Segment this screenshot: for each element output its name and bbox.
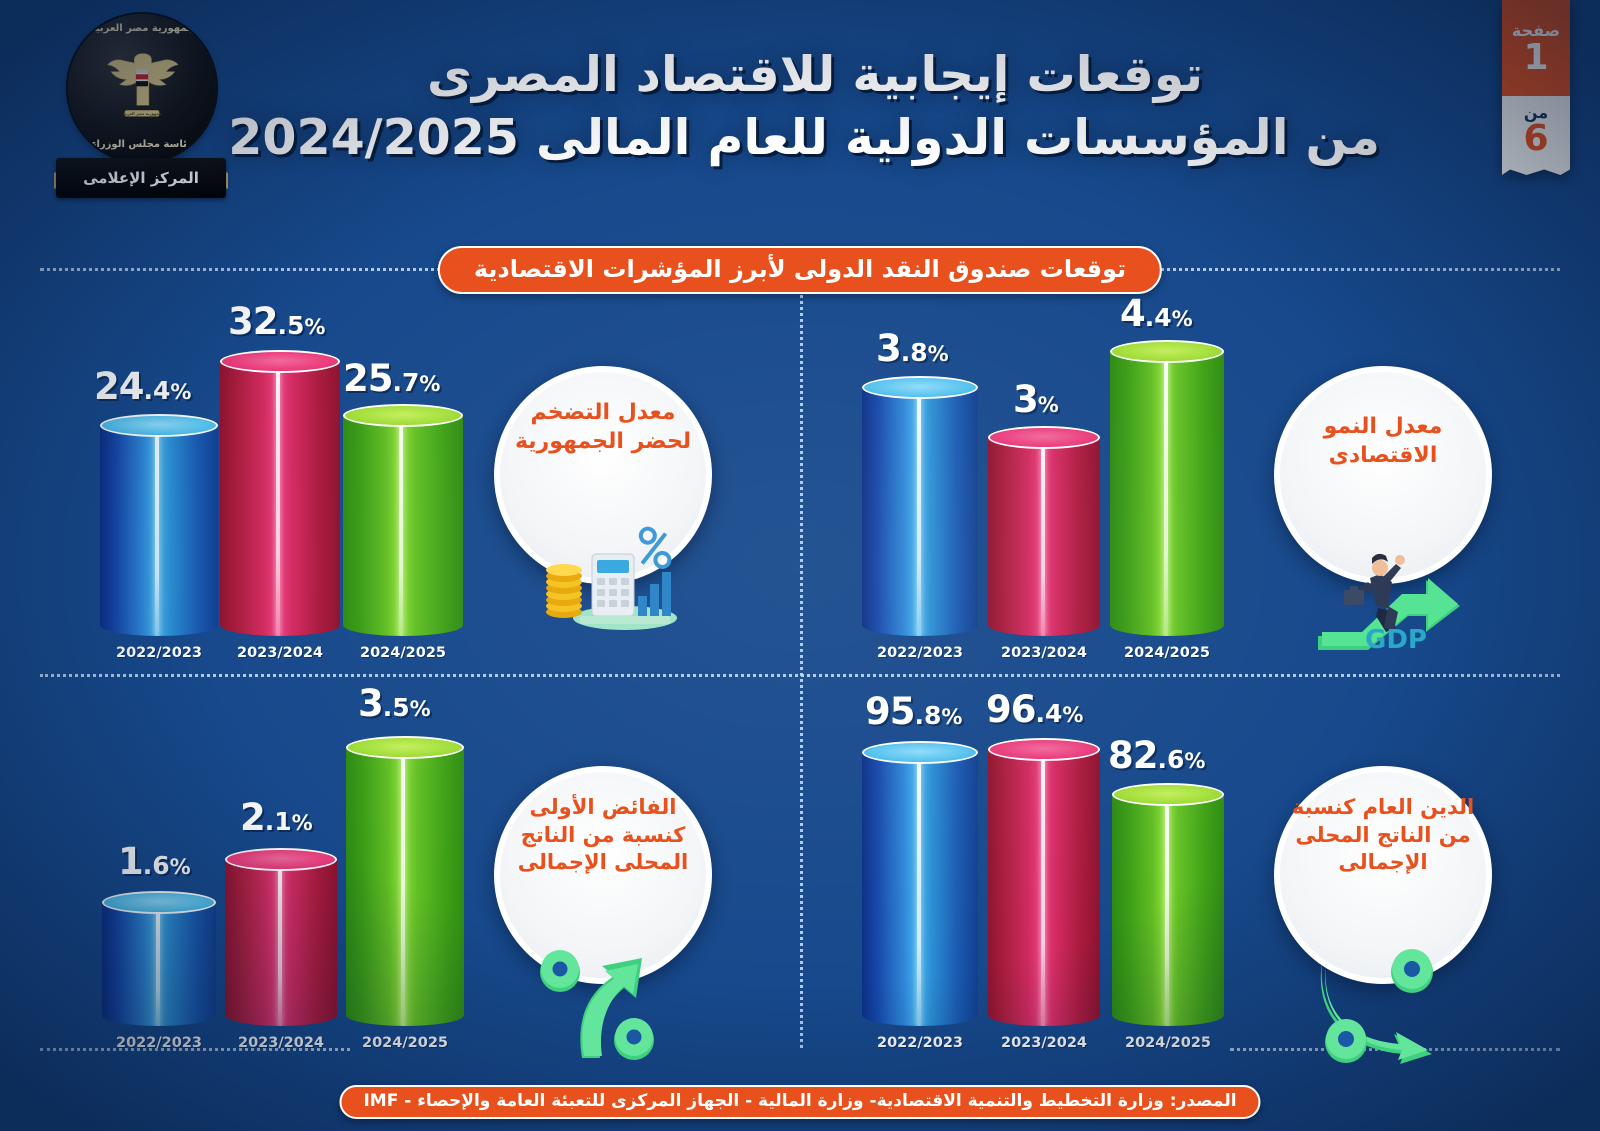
bar-highlight [401,747,405,1026]
value-decimal: .1 [265,807,292,836]
bar-top-ellipse [988,426,1100,449]
bar-value-debt-2023-2024: 96.4% [986,688,1083,731]
page-badge-total: من 6 [1502,96,1570,175]
bar-body [988,437,1100,636]
label-circle-public-debt-text: الدين العام كنسبة من الناتج المحلى الإجم… [1288,794,1478,877]
bar-inflation-2024-2025 [343,404,463,636]
label-circle-inflation-text: معدل التضخم لحضر الجمهورية [508,398,698,456]
value-integer: 2 [240,796,265,839]
bar-body [862,752,978,1026]
page-number-badge: صفحة 1 من 6 [1502,0,1570,175]
value-decimal: .4 [144,376,171,405]
bar-highlight [917,387,921,636]
page-title: توقعات إيجابية للاقتصاد المصرى من المؤسس… [250,44,1380,169]
bar-top-ellipse [1112,783,1224,806]
bar-body [1112,794,1224,1026]
section-banner: توقعات صندوق النقد الدولى لأبرز المؤشرات… [438,246,1162,294]
quadrant-primary-surplus: 1.6% 2022/2023 2.1% 2023/2024 3.5% 2024/… [60,690,780,1060]
value-decimal: .4 [1036,699,1063,728]
value-percent: % [1038,393,1059,417]
value-percent: % [1172,307,1193,331]
bar-body [346,747,464,1026]
value-decimal: .6 [1158,745,1185,774]
value-decimal: .8 [915,701,942,730]
bar-body [1110,351,1224,636]
bar-top-ellipse [988,738,1100,761]
bar-body [225,859,337,1026]
value-percent: % [170,855,191,879]
value-percent: % [1184,749,1205,773]
value-percent: % [170,380,191,404]
label-circle-growth: معدل النمو الاقتصادى [1274,366,1492,584]
value-percent: % [410,697,431,721]
value-percent: % [1062,703,1083,727]
bar-category-surplus-2023-2024: 2023/2024 [225,1035,337,1051]
source-footer: المصدر: وزارة التخطيط والتنمية الاقتصادي… [339,1085,1260,1119]
bar-top-ellipse [1110,340,1224,363]
bar-highlight [156,902,160,1026]
label-circle-inflation: معدل التضخم لحضر الجمهورية [494,366,712,584]
value-decimal: .4 [1145,303,1172,332]
divider-vertical [800,290,803,1048]
value-integer: 3 [358,682,383,725]
bar-debt-2022-2023 [862,741,978,1026]
value-decimal: .5 [278,311,305,340]
bar-category-debt-2024-2025: 2024/2025 [1112,1035,1224,1051]
bar-body [100,425,218,636]
bar-value-growth-2022-2023: 3.8% [876,327,949,370]
value-percent: % [304,315,325,339]
bar-category-growth-2024-2025: 2024/2025 [1110,645,1224,661]
value-integer: 3 [876,327,901,370]
bar-top-ellipse [102,891,216,914]
bar-surplus-2024-2025 [346,736,464,1026]
bar-category-growth-2023-2024: 2023/2024 [988,645,1100,661]
bar-value-inflation-2024-2025: 25.7% [343,357,440,400]
bar-growth-2022-2023 [862,376,978,636]
label-circle-growth-text: معدل النمو الاقتصادى [1288,412,1478,470]
value-integer: 4 [1120,292,1145,335]
bar-category-inflation-2024-2025: 2024/2025 [343,645,463,661]
bar-body [102,902,216,1026]
bar-debt-2024-2025 [1112,783,1224,1026]
bar-highlight [276,361,280,636]
value-decimal: .5 [383,693,410,722]
value-percent: % [292,811,313,835]
total-pages-value: 6 [1523,122,1548,156]
bar-category-growth-2022-2023: 2022/2023 [862,645,978,661]
gdp-label: GDP [1365,625,1427,650]
egypt-eagle-emblem-icon: جمهورية مصر العربية [99,43,185,129]
bar-top-ellipse [346,736,464,759]
value-integer: 95 [865,690,915,733]
svg-text:جمهورية مصر العربية: جمهورية مصر العربية [122,111,162,116]
bar-body [988,749,1100,1026]
government-logo: جمهورية مصر العربية جمهورية مصر العربية … [56,8,226,198]
bar-top-ellipse [100,414,218,437]
quadrant-public-debt: 95.8% 2022/2023 96.4% 2023/2024 82.6% 20… [840,690,1560,1060]
page-badge-current: صفحة 1 [1502,0,1570,96]
quadrant-inflation: 24.4% 2022/2023 32.5% 2023/2024 25.7% 20… [60,300,780,670]
bar-category-inflation-2022-2023: 2022/2023 [100,645,218,661]
bar-category-surplus-2022-2023: 2022/2023 [102,1035,216,1051]
bar-value-surplus-2024-2025: 3.5% [358,682,431,725]
value-percent: % [941,705,962,729]
bar-value-debt-2022-2023: 95.8% [865,690,962,733]
bar-value-growth-2024-2025: 4.4% [1120,292,1193,335]
quadrant-growth: 3.8% 2022/2023 3% 2023/2024 4.4% 2024/20… [840,300,1560,670]
bar-value-inflation-2022-2023: 24.4% [94,365,191,408]
bar-inflation-2023-2024 [220,350,340,636]
page-number-value: 1 [1523,41,1548,75]
bar-highlight [278,859,282,1026]
logo-bottom-arc-text: رئاسة مجلس الوزراء [68,139,216,150]
bar-top-ellipse [225,848,337,871]
bar-value-surplus-2022-2023: 1.6% [118,840,191,883]
bar-inflation-2022-2023 [100,414,218,636]
value-integer: 24 [94,365,144,408]
bar-top-ellipse [862,376,978,399]
bar-value-growth-2023-2024: 3% [1013,378,1059,421]
bar-top-ellipse [862,741,978,764]
bar-growth-2023-2024 [988,426,1100,636]
bar-highlight [917,752,921,1026]
value-percent: % [419,372,440,396]
bar-growth-2024-2025 [1110,340,1224,636]
bar-top-ellipse [343,404,463,427]
bar-highlight [155,425,159,636]
logo-banner-text: المركز الإعلامى [56,158,226,198]
bar-top-ellipse [220,350,340,373]
bar-value-surplus-2023-2024: 2.1% [240,796,313,839]
value-percent: % [928,342,949,366]
bar-surplus-2022-2023 [102,891,216,1026]
bar-debt-2023-2024 [988,738,1100,1026]
value-integer: 3 [1013,378,1038,421]
label-circle-primary-surplus-text: الفائض الأولى كنسبة من الناتج المحلى الإ… [508,794,698,877]
value-integer: 96 [986,688,1036,731]
label-circle-public-debt: الدين العام كنسبة من الناتج المحلى الإجم… [1274,766,1492,984]
label-circle-primary-surplus: الفائض الأولى كنسبة من الناتج المحلى الإ… [494,766,712,984]
logo-top-arc-text: جمهورية مصر العربية [68,23,216,34]
infographic-canvas: جمهورية مصر العربية جمهورية مصر العربية … [0,0,1600,1131]
bar-body [343,415,463,636]
bar-value-debt-2024-2025: 82.6% [1108,734,1205,777]
bar-highlight [1041,437,1045,636]
bar-highlight [1164,351,1168,636]
bar-highlight [399,415,403,636]
title-line-2: من المؤسسات الدولية للعام المالى 2024/20… [250,107,1380,170]
bar-category-debt-2022-2023: 2022/2023 [862,1035,978,1051]
value-integer: 32 [228,300,278,343]
title-line-1: توقعات إيجابية للاقتصاد المصرى [250,44,1380,107]
value-integer: 1 [118,840,143,883]
bar-body [862,387,978,636]
bar-highlight [1041,749,1045,1026]
bar-category-debt-2023-2024: 2023/2024 [988,1035,1100,1051]
value-decimal: .6 [143,851,170,880]
value-decimal: .7 [393,368,420,397]
value-integer: 82 [1108,734,1158,777]
divider-top-left [40,268,460,271]
bar-value-inflation-2023-2024: 32.5% [228,300,325,343]
bar-body [220,361,340,636]
value-decimal: .8 [901,338,928,367]
bar-surplus-2023-2024 [225,848,337,1026]
value-integer: 25 [343,357,393,400]
bar-category-inflation-2023-2024: 2023/2024 [220,645,340,661]
logo-disc: جمهورية مصر العربية جمهورية مصر العربية … [68,14,216,162]
divider-top-right [1150,268,1560,271]
bar-highlight [1165,794,1169,1026]
bar-category-surplus-2024-2025: 2024/2025 [346,1035,464,1051]
